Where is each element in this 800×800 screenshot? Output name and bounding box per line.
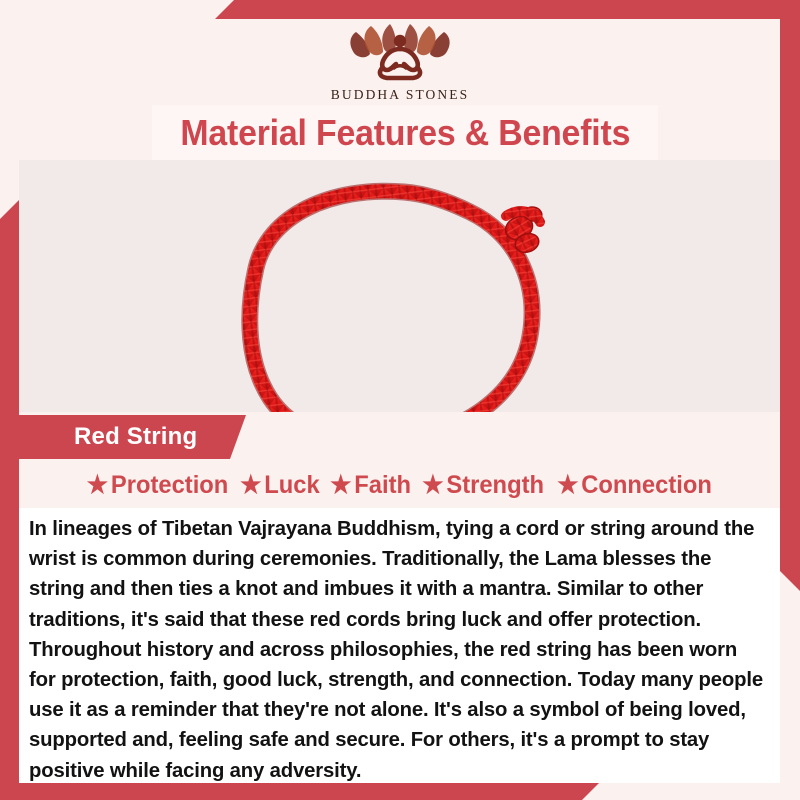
page-title: Material Features & Benefits <box>180 112 630 154</box>
star-icon: ★ <box>422 473 443 498</box>
brand-logo: BUDDHA STONES <box>0 20 800 103</box>
product-name-ribbon: Red String <box>19 415 246 459</box>
product-name-label: Red String <box>74 423 197 451</box>
frame-bar-left <box>0 200 19 800</box>
description-panel: In lineages of Tibetan Vajrayana Buddhis… <box>19 508 780 783</box>
benefit-item-connection: ★ Connection <box>557 471 712 500</box>
benefit-label: Luck <box>264 471 319 500</box>
benefit-item-faith: ★ Faith <box>330 471 411 500</box>
page-title-band: Material Features & Benefits <box>152 105 658 160</box>
brand-wordmark: BUDDHA STONES <box>331 87 469 103</box>
benefit-item-strength: ★ Strength <box>422 471 544 500</box>
benefit-label: Protection <box>111 471 228 500</box>
description-text: In lineages of Tibetan Vajrayana Buddhis… <box>29 514 768 786</box>
benefit-label: Strength <box>446 471 544 500</box>
benefit-label: Faith <box>354 471 411 500</box>
infographic-page: BUDDHA STONES Material Features & Benefi… <box>0 0 800 800</box>
star-icon: ★ <box>557 473 578 498</box>
star-icon: ★ <box>330 473 351 498</box>
frame-bar-top <box>215 0 800 19</box>
star-icon: ★ <box>240 473 261 498</box>
benefit-label: Connection <box>581 471 712 500</box>
benefit-item-protection: ★ Protection <box>87 471 229 500</box>
benefit-item-luck: ★ Luck <box>240 471 320 500</box>
product-hero-image <box>19 160 780 412</box>
red-string-bracelet-illustration <box>19 160 780 412</box>
benefits-row: ★ Protection ★ Luck ★ Faith ★ Strength ★… <box>19 463 780 508</box>
star-icon: ★ <box>87 473 108 498</box>
lotus-meditation-figure-icon <box>338 20 462 82</box>
